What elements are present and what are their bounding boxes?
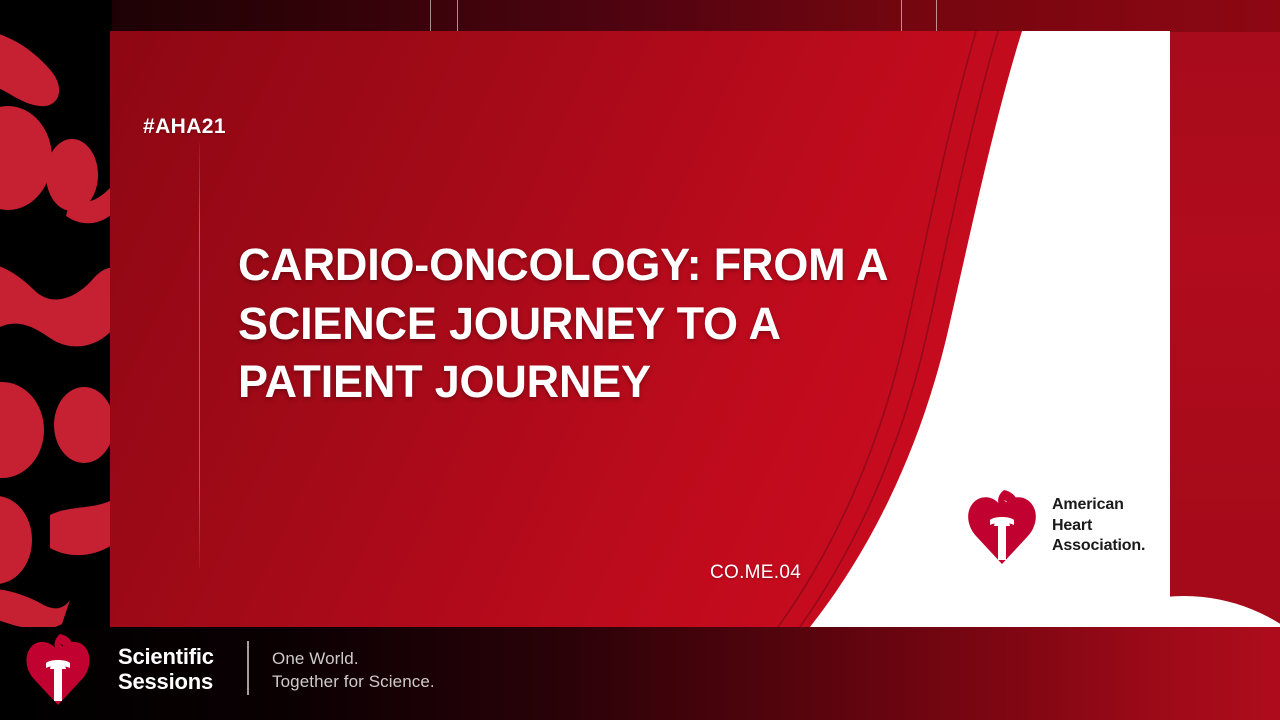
decorative-streak-line xyxy=(430,0,431,33)
footer-tagline-line-2: Together for Science. xyxy=(272,670,435,693)
footer-tagline: One World. Together for Science. xyxy=(272,647,435,693)
footer-brand-line-1: Scientific xyxy=(118,645,214,670)
footer-brand: Scientific Sessions xyxy=(118,645,214,694)
footer-brand-line-2: Sessions xyxy=(118,670,214,695)
page-title: CARDIO-ONCOLOGY: FROM A SCIENCE JOURNEY … xyxy=(238,236,938,412)
session-code: CO.ME.04 xyxy=(710,562,801,584)
decorative-blob-pattern xyxy=(0,0,112,627)
footer-tagline-line-1: One World. xyxy=(272,647,435,670)
background-top-dark-band xyxy=(0,0,1280,32)
hashtag-top: #AHA21 xyxy=(143,115,226,139)
logo-line-1: American xyxy=(1052,495,1145,515)
slide-card: #AHA21 CARDIO-ONCOLOGY: FROM A SCIENCE J… xyxy=(110,31,1170,627)
decorative-streak-line xyxy=(457,0,458,33)
logo-line-3: Association. xyxy=(1052,536,1145,556)
decorative-streak-line xyxy=(936,0,937,33)
heart-torch-icon xyxy=(966,486,1038,566)
logo-line-2: Heart xyxy=(1052,516,1145,536)
slide-stage: #AHA21 CARDIO-ONCOLOGY: FROM A SCIENCE J… xyxy=(0,0,1280,720)
logo-wordmark: American Heart Association. xyxy=(1052,495,1145,556)
title-accent-rule xyxy=(199,143,200,568)
footer-heart-torch-icon xyxy=(24,631,92,707)
decorative-streak-line xyxy=(901,0,902,33)
footer-divider xyxy=(247,641,249,695)
american-heart-association-logo: American Heart Association. xyxy=(966,486,1145,566)
